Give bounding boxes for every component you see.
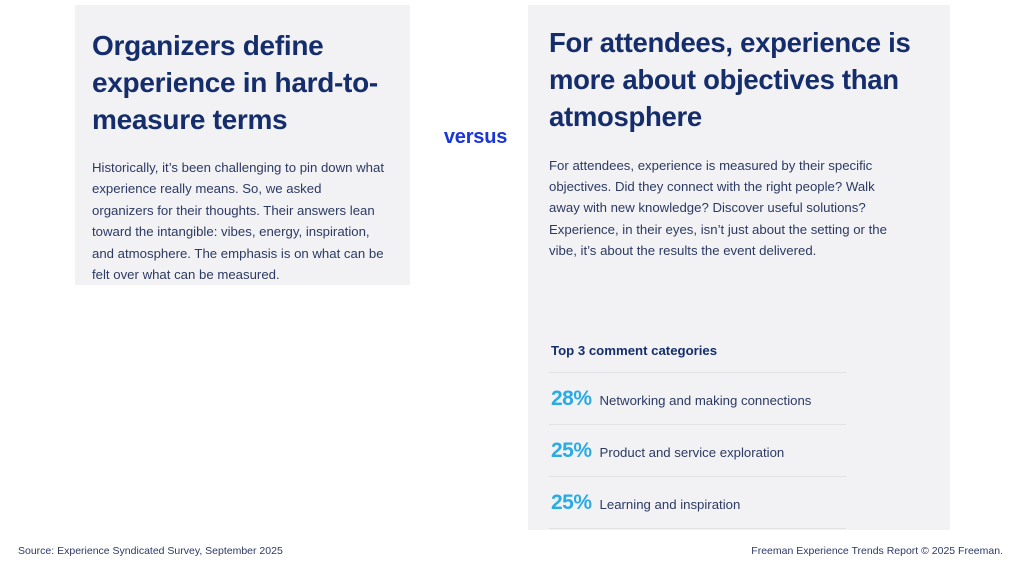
attendees-panel: For attendees, experience is more about … xyxy=(528,5,950,530)
organizers-panel: Organizers define experience in hard-to-… xyxy=(75,5,410,285)
footer-attribution: Freeman Experience Trends Report © 2025 … xyxy=(751,545,1003,557)
list-item: 28% Networking and making connections xyxy=(549,372,846,424)
category-percent: 25% xyxy=(551,491,592,515)
list-item: 25% Product and service exploration xyxy=(549,424,846,476)
list-item: 25% Learning and inspiration xyxy=(549,476,846,529)
footer-source: Source: Experience Syndicated Survey, Se… xyxy=(18,545,283,557)
versus-label: versus xyxy=(428,126,523,149)
category-percent: 25% xyxy=(551,439,592,463)
top-categories-section: Top 3 comment categories 28% Networking … xyxy=(549,343,929,529)
category-label: Product and service exploration xyxy=(600,444,785,461)
top-categories-list: 28% Networking and making connections 25… xyxy=(549,372,846,529)
category-label: Networking and making connections xyxy=(600,392,812,409)
top-categories-title: Top 3 comment categories xyxy=(551,343,929,358)
organizers-panel-heading: Organizers define experience in hard-to-… xyxy=(92,27,382,139)
attendees-panel-body: For attendees, experience is measured by… xyxy=(549,155,909,262)
category-label: Learning and inspiration xyxy=(600,496,741,513)
slide-root: Organizers define experience in hard-to-… xyxy=(0,0,1024,576)
organizers-panel-body: Historically, it’s been challenging to p… xyxy=(92,157,384,286)
category-percent: 28% xyxy=(551,387,592,411)
attendees-panel-heading: For attendees, experience is more about … xyxy=(549,25,928,136)
